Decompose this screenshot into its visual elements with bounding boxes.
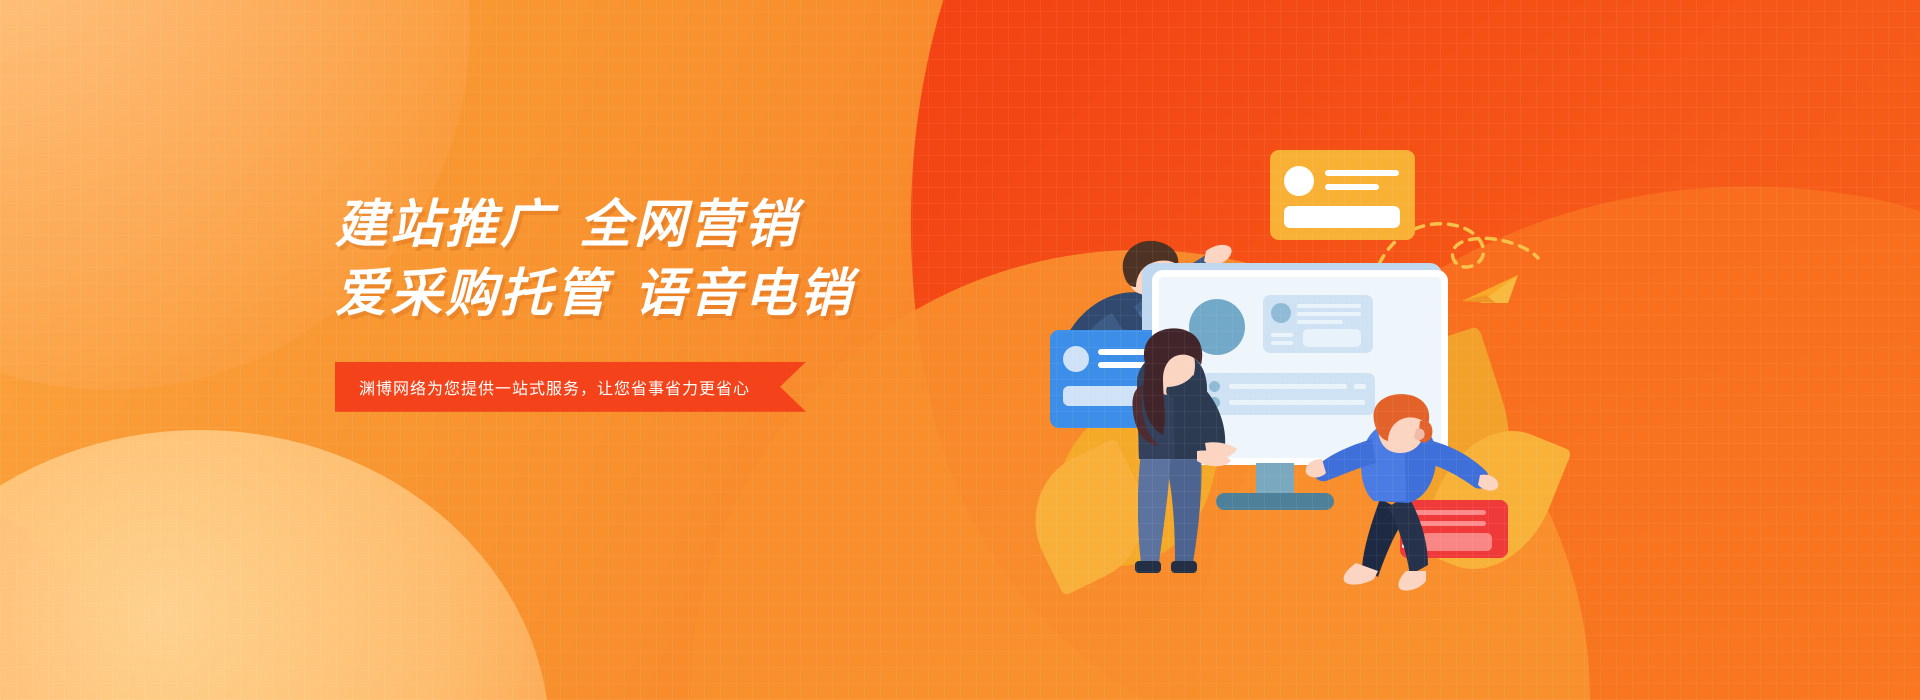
monitor-stand [1256, 463, 1294, 497]
monitor-panel [1263, 295, 1373, 353]
yellow-profile-card [1270, 150, 1415, 240]
headline-line-2-part-a: 爱采购托管 [335, 265, 610, 323]
hero-illustration [1090, 95, 1510, 585]
panel-line [1354, 384, 1366, 389]
headline-line-2-part-b: 语音电销 [634, 265, 854, 323]
background-circle-bottom-left [0, 430, 550, 700]
man-leaning [1312, 395, 1512, 595]
panel-button [1303, 329, 1361, 347]
card-text-line [1325, 184, 1379, 190]
card-avatar [1284, 166, 1314, 196]
panel-line [1271, 333, 1293, 337]
headline-line-1-part-a: 建站推广 [335, 196, 555, 254]
headline-line-1-part-b: 全网营销 [579, 196, 799, 254]
paper-plane-icon [1460, 273, 1524, 307]
panel-line [1297, 320, 1343, 324]
panel-line [1297, 312, 1361, 316]
headline-line-1: 建站推广全网营销 [335, 195, 1095, 256]
woman-standing [1105, 325, 1245, 587]
promo-banner: 建站推广全网营销 爱采购托管语音电销 渊博网络为您提供一站式服务，让您省事省力更… [0, 0, 1920, 700]
panel-line [1297, 304, 1361, 308]
panel-line [1229, 384, 1347, 389]
card-input-bar [1284, 206, 1400, 228]
card-text-line [1325, 170, 1399, 176]
banner-copy: 建站推广全网营销 爱采购托管语音电销 渊博网络为您提供一站式服务，让您省事省力更… [335, 195, 1095, 412]
panel-line [1271, 341, 1293, 345]
headline-line-2: 爱采购托管语音电销 [335, 264, 1095, 325]
tagline-text: 渊博网络为您提供一站式服务，让您省事省力更省心 [359, 381, 750, 398]
tagline-ribbon: 渊博网络为您提供一站式服务，让您省事省力更省心 [335, 362, 806, 412]
panel-avatar [1271, 303, 1291, 323]
